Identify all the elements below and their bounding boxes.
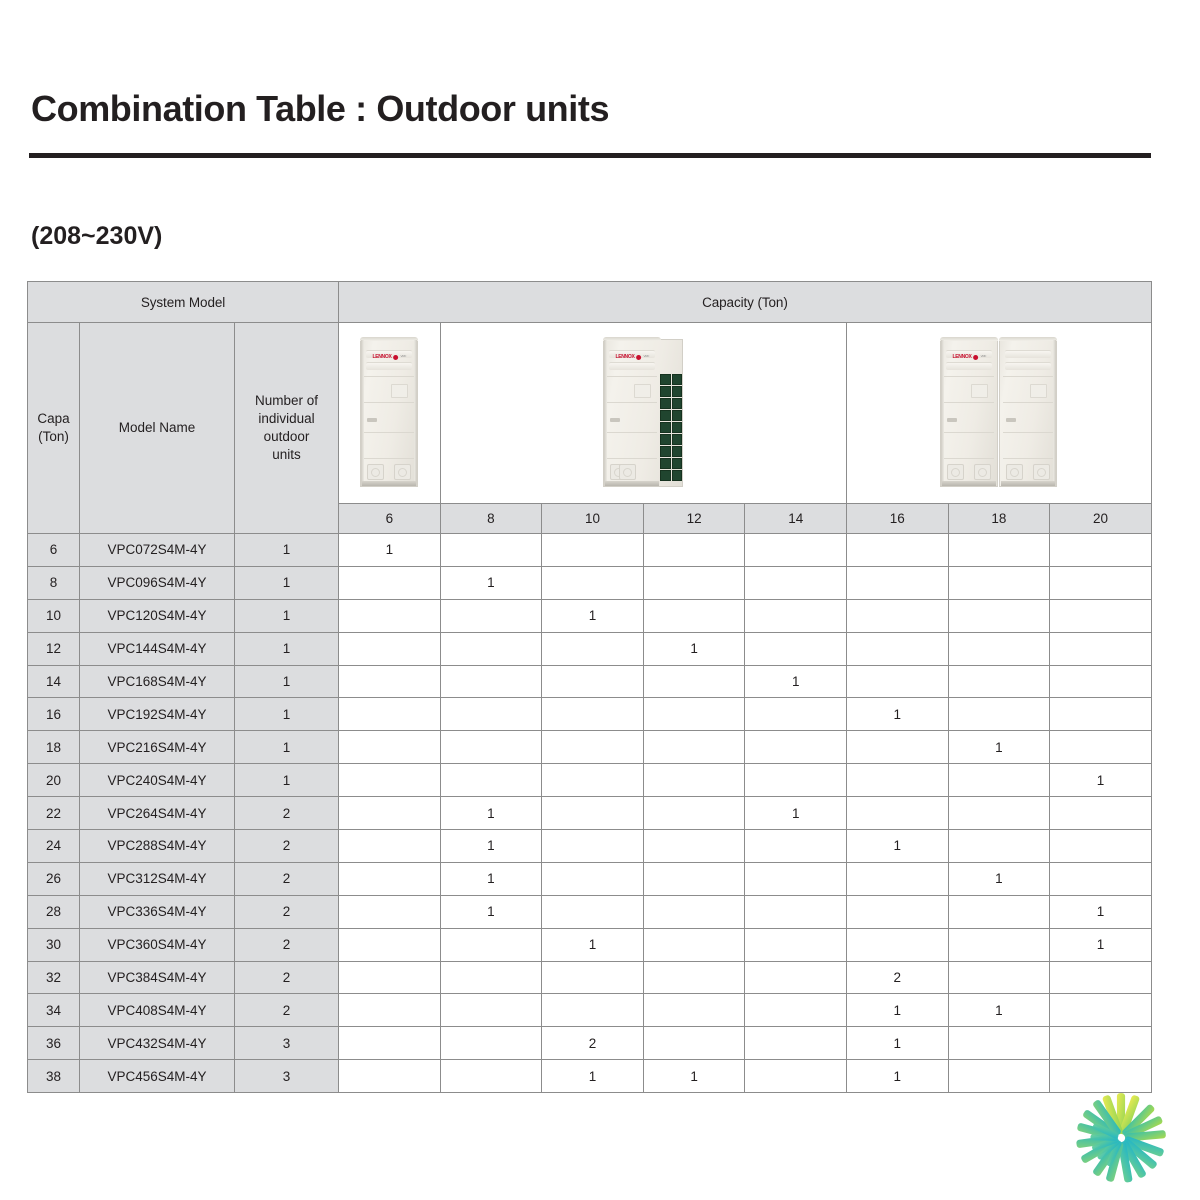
row-capacity-cell-14 — [745, 1027, 847, 1060]
row-capacity-cell-10: 1 — [542, 1060, 644, 1093]
row-capacity-cell-18 — [948, 566, 1050, 599]
unit-side-left — [604, 340, 607, 486]
row-capacity-cell-10 — [542, 895, 644, 928]
row-number-of-units: 1 — [235, 632, 339, 665]
row-capacity-cell-14 — [745, 928, 847, 961]
row-capacity-cell-18: 1 — [948, 731, 1050, 764]
unit-foot — [947, 464, 964, 480]
row-capacity-cell-6 — [339, 764, 441, 797]
row-capacity-cell-18 — [948, 764, 1050, 797]
unit-seam — [364, 458, 414, 459]
row-capacity-cell-14 — [745, 862, 847, 895]
unit-body: LENNOX VRF — [941, 340, 997, 486]
row-capacity-cell-16 — [847, 632, 949, 665]
row-capacity-cell-10 — [542, 764, 644, 797]
row-number-of-units: 2 — [235, 928, 339, 961]
row-capacity-cell-10 — [542, 534, 644, 567]
lennox-logo-dot — [636, 355, 641, 360]
row-capacity-cell-6 — [339, 830, 441, 863]
row-capacity-cell-12 — [643, 698, 745, 731]
row-model-name: VPC168S4M-4Y — [80, 665, 235, 698]
unit-base — [1001, 481, 1055, 486]
row-capacity-cell-10 — [542, 632, 644, 665]
row-capacity-cell-14 — [745, 994, 847, 1027]
voltage-subtitle: (208~230V) — [31, 222, 162, 251]
table-column-header-row: Capa (Ton) Model Name Number of individu… — [28, 323, 1152, 504]
outdoor-unit-icon: LENNOX VRF — [940, 339, 998, 487]
row-capacity-cell-12 — [643, 994, 745, 1027]
capacity-column-header-8: 8 — [440, 504, 542, 534]
row-model-name: VPC384S4M-4Y — [80, 961, 235, 994]
row-number-of-units: 2 — [235, 994, 339, 1027]
unit-side-left — [941, 340, 944, 486]
row-capacity-cell-8 — [440, 599, 542, 632]
row-number-of-units: 2 — [235, 961, 339, 994]
group-header-capacity: Capacity (Ton) — [339, 282, 1152, 323]
row-capacity-cell-14 — [745, 566, 847, 599]
row-number-of-units: 3 — [235, 1027, 339, 1060]
table-row: 10VPC120S4M-4Y11 — [28, 599, 1152, 632]
row-capacity-cell-14 — [745, 731, 847, 764]
row-capacity-cell-16 — [847, 928, 949, 961]
row-number-of-units: 2 — [235, 797, 339, 830]
row-capacity-cell-18 — [948, 1060, 1050, 1093]
row-capacity: 16 — [28, 698, 80, 731]
table-row: 24VPC288S4M-4Y211 — [28, 830, 1152, 863]
row-capacity-cell-6 — [339, 797, 441, 830]
row-capacity-cell-8 — [440, 764, 542, 797]
row-capacity-cell-8 — [440, 632, 542, 665]
row-number-of-units: 2 — [235, 830, 339, 863]
row-capacity-cell-16: 2 — [847, 961, 949, 994]
unit-seam — [1003, 432, 1053, 433]
unit-louver — [1005, 350, 1051, 358]
table-row: 18VPC216S4M-4Y11 — [28, 731, 1152, 764]
row-capacity: 10 — [28, 599, 80, 632]
unit-illustration-stage: LENNOX VRF — [441, 323, 846, 503]
combination-table: System Model Capacity (Ton) Capa (Ton) M… — [27, 281, 1152, 1093]
table-row: 36VPC432S4M-4Y321 — [28, 1027, 1152, 1060]
table-group-header-row: System Model Capacity (Ton) — [28, 282, 1152, 323]
row-capacity-cell-6 — [339, 961, 441, 994]
row-number-of-units: 1 — [235, 698, 339, 731]
group-header-system-model: System Model — [28, 282, 339, 323]
row-capacity-cell-10 — [542, 961, 644, 994]
row-capacity: 36 — [28, 1027, 80, 1060]
row-capacity-cell-16: 1 — [847, 1060, 949, 1093]
unit-foot — [974, 464, 991, 480]
row-capacity: 30 — [28, 928, 80, 961]
row-model-name: VPC408S4M-4Y — [80, 994, 235, 1027]
row-model-name: VPC144S4M-4Y — [80, 632, 235, 665]
row-capacity-cell-6 — [339, 665, 441, 698]
title-divider — [29, 153, 1151, 158]
row-capacity-cell-20: 1 — [1050, 928, 1152, 961]
row-capacity-cell-20 — [1050, 566, 1152, 599]
page-title: Combination Table : Outdoor units — [31, 88, 609, 130]
row-capacity-cell-12 — [643, 895, 745, 928]
unit-illustration-stage: LENNOX VRF — [847, 323, 1151, 503]
row-model-name: VPC216S4M-4Y — [80, 731, 235, 764]
row-capacity-cell-10 — [542, 665, 644, 698]
capacity-column-header-20: 20 — [1050, 504, 1152, 534]
unit-vent — [947, 418, 957, 422]
row-capacity-cell-10 — [542, 731, 644, 764]
table-row: 38VPC456S4M-4Y3111 — [28, 1060, 1152, 1093]
row-capacity-cell-16 — [847, 797, 949, 830]
table-row: 32VPC384S4M-4Y22 — [28, 961, 1152, 994]
row-capacity-cell-20 — [1050, 994, 1152, 1027]
unit-seam — [944, 432, 994, 433]
unit-foot — [367, 464, 384, 480]
row-capacity-cell-16 — [847, 764, 949, 797]
unit-louver — [946, 362, 992, 370]
row-capacity-cell-6: 1 — [339, 534, 441, 567]
row-capacity: 22 — [28, 797, 80, 830]
row-capacity-cell-8 — [440, 1027, 542, 1060]
row-capacity-cell-20 — [1050, 665, 1152, 698]
unit-seam — [364, 402, 414, 403]
unit-seam — [944, 458, 994, 459]
lennox-logo-sub: VRF — [981, 355, 987, 358]
row-capacity-cell-6 — [339, 895, 441, 928]
row-capacity-cell-10 — [542, 862, 644, 895]
row-capacity-cell-6 — [339, 599, 441, 632]
outdoor-unit-icon: LENNOX VRF — [360, 339, 418, 487]
unit-seam — [1003, 458, 1053, 459]
unit-vent — [1006, 418, 1016, 422]
row-capacity-cell-14 — [745, 961, 847, 994]
row-capacity-cell-12 — [643, 665, 745, 698]
row-capacity-cell-6 — [339, 994, 441, 1027]
unit-image-dual-pair: LENNOX VRF — [847, 323, 1152, 504]
row-capacity: 32 — [28, 961, 80, 994]
column-header-model-name: Model Name — [80, 323, 235, 534]
row-capacity-cell-8 — [440, 928, 542, 961]
row-capacity-cell-12: 1 — [643, 632, 745, 665]
unit-image-single-small: LENNOX VRF — [339, 323, 441, 504]
row-capacity: 20 — [28, 764, 80, 797]
unit-foot — [1033, 464, 1050, 480]
row-number-of-units: 3 — [235, 1060, 339, 1093]
row-capacity-cell-8 — [440, 534, 542, 567]
row-capacity-cell-12 — [643, 731, 745, 764]
row-capacity-cell-20 — [1050, 797, 1152, 830]
unit-access-panel — [634, 384, 651, 398]
row-capacity: 26 — [28, 862, 80, 895]
row-capacity-cell-18: 1 — [948, 994, 1050, 1027]
table-row: 30VPC360S4M-4Y211 — [28, 928, 1152, 961]
row-capacity-cell-20: 1 — [1050, 764, 1152, 797]
row-capacity-cell-18 — [948, 928, 1050, 961]
row-capacity-cell-14 — [745, 698, 847, 731]
unit-top-cap — [940, 337, 998, 341]
lennox-logo-sub: VRF — [401, 355, 407, 358]
lennox-logo-text: LENNOX — [615, 354, 634, 360]
unit-illustration-stage: LENNOX VRF — [339, 323, 440, 503]
unit-foot — [1006, 464, 1023, 480]
table-row: 26VPC312S4M-4Y211 — [28, 862, 1152, 895]
number-of-units-line1: Number of — [235, 392, 338, 410]
row-capacity-cell-20 — [1050, 830, 1152, 863]
table-row: 6VPC072S4M-4Y11 — [28, 534, 1152, 567]
unit-seam — [1003, 376, 1053, 377]
unit-access-panel — [1030, 384, 1047, 398]
row-capacity: 6 — [28, 534, 80, 567]
row-capacity-cell-18 — [948, 665, 1050, 698]
table-row: 34VPC408S4M-4Y211 — [28, 994, 1152, 1027]
row-capacity-cell-18 — [948, 698, 1050, 731]
row-capacity-cell-8 — [440, 1060, 542, 1093]
row-capacity-cell-16 — [847, 599, 949, 632]
number-of-units-line2: individual — [235, 410, 338, 428]
row-number-of-units: 2 — [235, 895, 339, 928]
column-header-capa: Capa (Ton) — [28, 323, 80, 534]
row-capacity-cell-16: 1 — [847, 698, 949, 731]
row-model-name: VPC240S4M-4Y — [80, 764, 235, 797]
row-model-name: VPC096S4M-4Y — [80, 566, 235, 599]
row-model-name: VPC456S4M-4Y — [80, 1060, 235, 1093]
unit-side-left — [361, 340, 364, 486]
column-header-capa-line1: Capa — [28, 410, 79, 428]
row-capacity-cell-14 — [745, 830, 847, 863]
capacity-column-header-6: 6 — [339, 504, 441, 534]
unit-vent — [610, 418, 620, 422]
row-capacity-cell-6 — [339, 1060, 441, 1093]
lennox-logo-dot — [394, 355, 399, 360]
row-capacity-cell-12 — [643, 928, 745, 961]
row-capacity-cell-6 — [339, 1027, 441, 1060]
unit-base — [362, 481, 416, 486]
unit-side-right — [414, 340, 417, 486]
capacity-column-header-12: 12 — [643, 504, 745, 534]
row-capacity-cell-20 — [1050, 862, 1152, 895]
row-capacity-cell-20 — [1050, 599, 1152, 632]
lennox-logo-dot — [974, 355, 979, 360]
unit-seam — [364, 376, 414, 377]
row-number-of-units: 2 — [235, 862, 339, 895]
row-number-of-units: 1 — [235, 566, 339, 599]
row-capacity-cell-10: 1 — [542, 599, 644, 632]
row-capacity-cell-18: 1 — [948, 862, 1050, 895]
unit-top-cap — [603, 337, 661, 341]
row-capacity: 12 — [28, 632, 80, 665]
row-capacity-cell-10 — [542, 830, 644, 863]
radial-burst-logo-icon — [1070, 1087, 1172, 1189]
row-capacity-cell-16 — [847, 862, 949, 895]
row-capacity-cell-8: 1 — [440, 862, 542, 895]
row-capacity-cell-20 — [1050, 1027, 1152, 1060]
row-capacity-cell-8 — [440, 665, 542, 698]
row-capacity: 38 — [28, 1060, 80, 1093]
column-header-capa-line2: (Ton) — [28, 428, 79, 446]
row-capacity-cell-10 — [542, 698, 644, 731]
row-capacity-cell-18 — [948, 599, 1050, 632]
row-capacity-cell-16: 1 — [847, 1027, 949, 1060]
number-of-units-line4: units — [235, 446, 338, 464]
unit-seam — [607, 458, 657, 459]
row-capacity-cell-20 — [1050, 961, 1152, 994]
row-number-of-units: 1 — [235, 731, 339, 764]
unit-foot — [394, 464, 411, 480]
unit-side-right — [1053, 340, 1056, 486]
table-row: 8VPC096S4M-4Y11 — [28, 566, 1152, 599]
row-capacity-cell-12: 1 — [643, 1060, 745, 1093]
row-capacity-cell-8: 1 — [440, 830, 542, 863]
row-model-name: VPC432S4M-4Y — [80, 1027, 235, 1060]
unit-louver — [1005, 362, 1051, 370]
lennox-logo-text: LENNOX — [372, 354, 391, 360]
table-body: System Model Capacity (Ton) Capa (Ton) M… — [28, 282, 1152, 1093]
row-capacity-cell-8 — [440, 961, 542, 994]
row-capacity-cell-18 — [948, 895, 1050, 928]
table-row: 16VPC192S4M-4Y11 — [28, 698, 1152, 731]
table-row: 28VPC336S4M-4Y211 — [28, 895, 1152, 928]
unit-base — [605, 481, 659, 486]
unit-louver — [609, 362, 655, 370]
row-model-name: VPC360S4M-4Y — [80, 928, 235, 961]
unit-seam — [944, 376, 994, 377]
unit-seam — [607, 432, 657, 433]
unit-access-panel — [391, 384, 408, 398]
unit-base — [942, 481, 996, 486]
unit-seam — [944, 402, 994, 403]
row-capacity-cell-12 — [643, 797, 745, 830]
row-model-name: VPC288S4M-4Y — [80, 830, 235, 863]
row-number-of-units: 1 — [235, 599, 339, 632]
capacity-column-header-18: 18 — [948, 504, 1050, 534]
row-capacity-cell-16 — [847, 534, 949, 567]
row-capacity-cell-8 — [440, 994, 542, 1027]
row-capacity-cell-18 — [948, 632, 1050, 665]
unit-access-panel — [971, 384, 988, 398]
row-capacity-cell-10 — [542, 994, 644, 1027]
table-row: 20VPC240S4M-4Y11 — [28, 764, 1152, 797]
row-capacity-cell-12 — [643, 1027, 745, 1060]
row-capacity: 28 — [28, 895, 80, 928]
capacity-column-header-16: 16 — [847, 504, 949, 534]
row-capacity-cell-6 — [339, 928, 441, 961]
row-capacity-cell-6 — [339, 698, 441, 731]
unit-seam — [364, 432, 414, 433]
unit-seam — [607, 376, 657, 377]
row-capacity-cell-16 — [847, 665, 949, 698]
row-capacity-cell-14 — [745, 534, 847, 567]
outdoor-unit-icon — [999, 339, 1057, 487]
row-capacity: 18 — [28, 731, 80, 764]
unit-body — [1000, 340, 1056, 486]
row-capacity-cell-12 — [643, 862, 745, 895]
row-capacity-cell-8: 1 — [440, 895, 542, 928]
unit-body: LENNOX VRF — [604, 340, 660, 486]
row-capacity-cell-14: 1 — [745, 797, 847, 830]
row-model-name: VPC312S4M-4Y — [80, 862, 235, 895]
capacity-column-header-14: 14 — [745, 504, 847, 534]
row-capacity: 8 — [28, 566, 80, 599]
table-row: 22VPC264S4M-4Y211 — [28, 797, 1152, 830]
row-capacity-cell-6 — [339, 566, 441, 599]
row-capacity-cell-16: 1 — [847, 830, 949, 863]
row-capacity: 34 — [28, 994, 80, 1027]
row-capacity-cell-20: 1 — [1050, 895, 1152, 928]
row-capacity: 14 — [28, 665, 80, 698]
table-row: 14VPC168S4M-4Y11 — [28, 665, 1152, 698]
unit-body: LENNOX VRF — [361, 340, 417, 486]
row-capacity-cell-18 — [948, 961, 1050, 994]
row-capacity-cell-18 — [948, 1027, 1050, 1060]
row-capacity-cell-12 — [643, 961, 745, 994]
unit-top-cap — [999, 337, 1057, 341]
row-capacity-cell-8 — [440, 731, 542, 764]
column-header-number-of-units: Number of individual outdoor units — [235, 323, 339, 534]
unit-image-large-with-coil: LENNOX VRF — [440, 323, 846, 504]
table-row: 12VPC144S4M-4Y11 — [28, 632, 1152, 665]
lennox-logo-text: LENNOX — [953, 354, 972, 360]
row-capacity-cell-10 — [542, 797, 644, 830]
row-model-name: VPC192S4M-4Y — [80, 698, 235, 731]
unit-foot — [619, 464, 636, 480]
row-capacity-cell-6 — [339, 731, 441, 764]
lennox-logo-icon: LENNOX VRF — [953, 354, 987, 360]
row-model-name: VPC264S4M-4Y — [80, 797, 235, 830]
row-capacity-cell-12 — [643, 566, 745, 599]
row-number-of-units: 1 — [235, 764, 339, 797]
lennox-logo-sub: VRF — [643, 355, 649, 358]
row-capacity-cell-12 — [643, 599, 745, 632]
row-capacity-cell-8: 1 — [440, 566, 542, 599]
outdoor-unit-icon: LENNOX VRF — [603, 339, 683, 487]
condenser-coil-icon — [660, 340, 682, 486]
row-capacity-cell-12 — [643, 830, 745, 863]
row-capacity-cell-20 — [1050, 632, 1152, 665]
unit-louver — [366, 362, 412, 370]
row-model-name: VPC336S4M-4Y — [80, 895, 235, 928]
row-capacity-cell-14 — [745, 764, 847, 797]
row-capacity-cell-8 — [440, 698, 542, 731]
row-capacity-cell-16 — [847, 895, 949, 928]
row-capacity-cell-14 — [745, 599, 847, 632]
row-number-of-units: 1 — [235, 534, 339, 567]
row-model-name: VPC120S4M-4Y — [80, 599, 235, 632]
row-capacity-cell-16 — [847, 566, 949, 599]
row-capacity-cell-18 — [948, 534, 1050, 567]
row-capacity-cell-6 — [339, 632, 441, 665]
unit-top-cap — [360, 337, 418, 341]
row-capacity-cell-10 — [542, 566, 644, 599]
row-model-name: VPC072S4M-4Y — [80, 534, 235, 567]
row-capacity-cell-6 — [339, 862, 441, 895]
row-capacity-cell-14 — [745, 895, 847, 928]
row-capacity-cell-16: 1 — [847, 994, 949, 1027]
row-capacity-cell-20 — [1050, 731, 1152, 764]
row-capacity-cell-12 — [643, 764, 745, 797]
row-capacity-cell-20 — [1050, 698, 1152, 731]
row-capacity-cell-10: 1 — [542, 928, 644, 961]
capacity-column-header-10: 10 — [542, 504, 644, 534]
row-capacity-cell-8: 1 — [440, 797, 542, 830]
unit-seam — [1003, 402, 1053, 403]
row-capacity-cell-14: 1 — [745, 665, 847, 698]
row-capacity: 24 — [28, 830, 80, 863]
row-capacity-cell-16 — [847, 731, 949, 764]
row-capacity-cell-12 — [643, 534, 745, 567]
row-capacity-cell-18 — [948, 830, 1050, 863]
row-number-of-units: 1 — [235, 665, 339, 698]
row-capacity-cell-14 — [745, 632, 847, 665]
row-capacity-cell-18 — [948, 797, 1050, 830]
unit-vent — [367, 418, 377, 422]
row-capacity-cell-14 — [745, 1060, 847, 1093]
